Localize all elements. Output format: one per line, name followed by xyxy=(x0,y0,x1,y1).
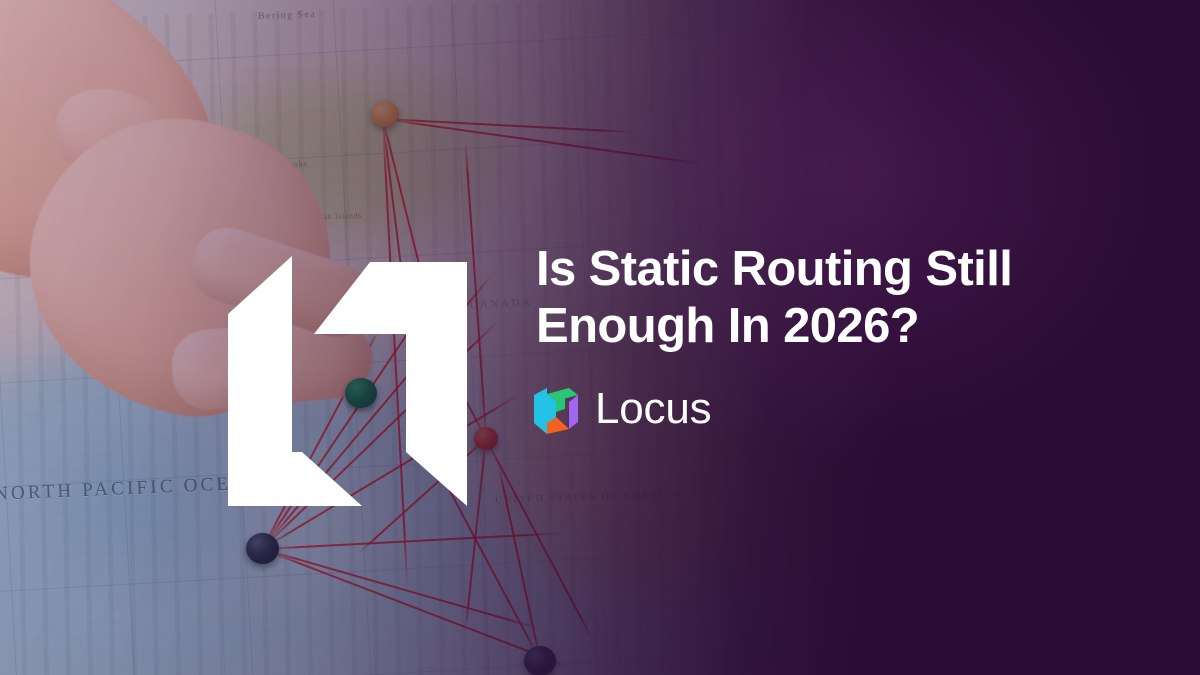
blog-banner: NORTH PACIFIC OCEAN Bering Sea CANADA UN… xyxy=(0,0,1200,675)
headline-line-1: Is Static Routing Still xyxy=(536,241,1136,298)
page-title: Is Static Routing Still Enough In 2026? xyxy=(536,241,1136,356)
locus-wordmark: Locus xyxy=(595,387,711,431)
locus-logo-mark-icon xyxy=(228,256,470,506)
headline-line-2: Enough In 2026? xyxy=(536,298,1136,355)
locus-brand-lockup: Locus xyxy=(531,384,711,434)
locus-cube-icon xyxy=(531,384,581,434)
